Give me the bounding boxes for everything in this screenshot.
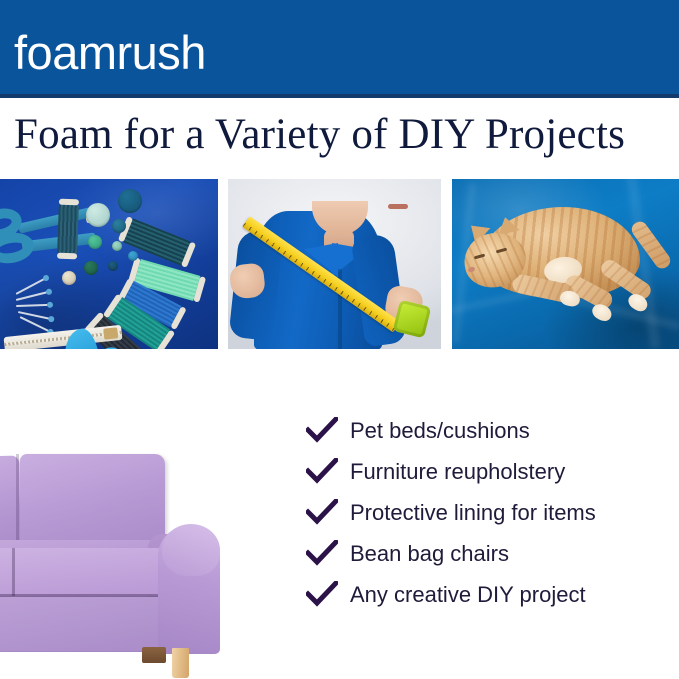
benefits-list: Pet beds/cushions Furniture reupholstery…	[306, 410, 679, 615]
person-chin	[312, 201, 368, 235]
sewing-button	[108, 261, 118, 271]
check-icon	[306, 417, 350, 445]
lavender-sofa-illustration	[0, 448, 266, 679]
check-icon	[306, 458, 350, 486]
person-left-hand	[229, 262, 266, 299]
sewing-button	[112, 219, 126, 233]
sewing-button	[86, 203, 110, 227]
brand-banner-underline	[0, 94, 679, 98]
benefit-label: Bean bag chairs	[350, 541, 509, 567]
product-feature-graphic: foamrush Foam for a Variety of DIY Proje…	[0, 0, 679, 679]
check-icon	[306, 499, 350, 527]
scissors-icon	[0, 207, 98, 271]
list-item: Furniture reupholstery	[306, 451, 679, 492]
benefit-label: Protective lining for items	[350, 500, 596, 526]
sewing-button	[88, 235, 102, 249]
sofa-arm-roll	[162, 524, 220, 576]
sofa-center-foot	[142, 647, 166, 663]
list-item: Bean bag chairs	[306, 533, 679, 574]
page-title: Foam for a Variety of DIY Projects	[14, 110, 674, 160]
sewing-supplies-photo	[0, 179, 218, 349]
check-icon	[306, 581, 350, 609]
photo-strip	[0, 179, 679, 349]
cat-on-beanbag-photo	[452, 179, 679, 349]
list-item: Protective lining for items	[306, 492, 679, 533]
sewing-pins	[12, 287, 78, 327]
check-icon	[306, 540, 350, 568]
measuring-tape-photo	[228, 179, 441, 349]
sewing-button	[84, 261, 98, 275]
sofa-back-cushion	[20, 454, 165, 554]
sofa-crease	[16, 454, 19, 554]
sewing-button	[128, 251, 138, 261]
list-item: Any creative DIY project	[306, 574, 679, 615]
list-item: Pet beds/cushions	[306, 410, 679, 451]
sewing-button	[118, 189, 142, 213]
benefit-label: Pet beds/cushions	[350, 418, 530, 444]
benefit-label: Any creative DIY project	[350, 582, 586, 608]
benefit-label: Furniture reupholstery	[350, 459, 565, 485]
sofa-wooden-leg	[172, 648, 189, 678]
sewing-button	[112, 241, 122, 251]
person-lips	[388, 204, 408, 209]
sofa-seat-cushion	[0, 548, 182, 596]
sewing-button	[62, 271, 76, 285]
sofa-seat-divider	[12, 548, 15, 596]
thread-spool	[57, 199, 79, 260]
brand-logo: foamrush	[14, 27, 206, 79]
